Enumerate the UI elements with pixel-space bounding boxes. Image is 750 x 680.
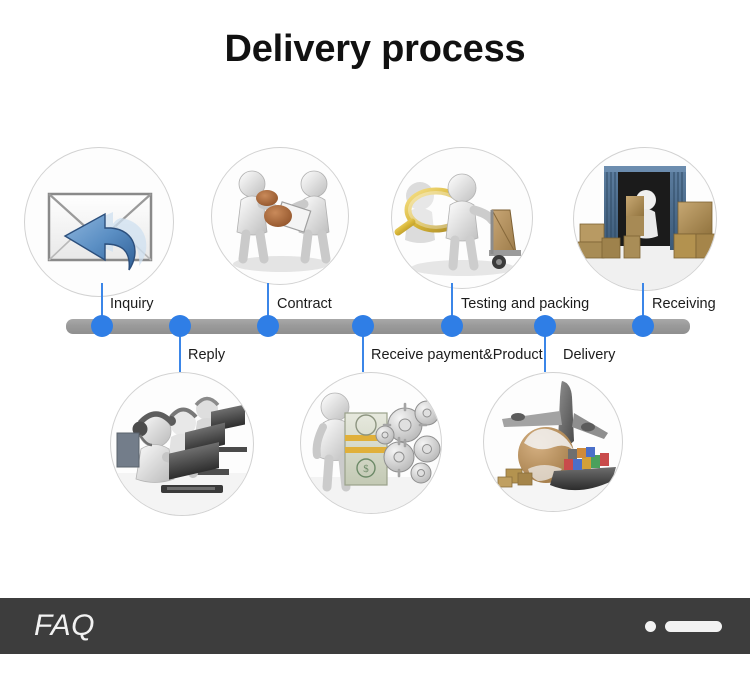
step-label-contract: Contract [277, 297, 332, 312]
illustration-call-center [110, 372, 254, 516]
illustration-container-loading [573, 147, 717, 291]
timeline-dot-receive-payment[interactable] [352, 315, 374, 337]
pager-dot-active[interactable] [665, 621, 722, 632]
timeline-dot-testing[interactable] [441, 315, 463, 337]
svg-text:$: $ [363, 463, 369, 475]
step-label-receive-payment: Receive payment&Product [371, 348, 543, 363]
timeline-dot-contract[interactable] [257, 315, 279, 337]
illustration-payment-production: $ [300, 372, 442, 514]
timeline-dot-reply[interactable] [169, 315, 191, 337]
step-label-inquiry: Inquiry [110, 297, 154, 312]
illustration-envelope-reply [24, 147, 174, 297]
faq-bar: FAQ [0, 598, 750, 654]
timeline-bar [66, 319, 690, 334]
illustration-testing-packing [391, 147, 533, 289]
timeline-dot-delivery[interactable] [534, 315, 556, 337]
illustration-global-shipping [483, 372, 623, 512]
pager-dot-1[interactable] [645, 621, 656, 632]
illustration-contract-signing [211, 147, 349, 285]
step-label-delivery: Delivery [563, 348, 615, 363]
step-label-receiving: Receiving [652, 297, 716, 312]
timeline-dot-receiving[interactable] [632, 315, 654, 337]
faq-label: FAQ [34, 609, 95, 643]
step-label-reply: Reply [188, 348, 225, 363]
carousel-pager[interactable] [645, 621, 722, 632]
step-label-testing: Testing and packing [461, 297, 589, 312]
timeline-dot-inquiry[interactable] [91, 315, 113, 337]
delivery-process-diagram: Inquiry Reply Contract Receive payment&P… [0, 0, 750, 595]
